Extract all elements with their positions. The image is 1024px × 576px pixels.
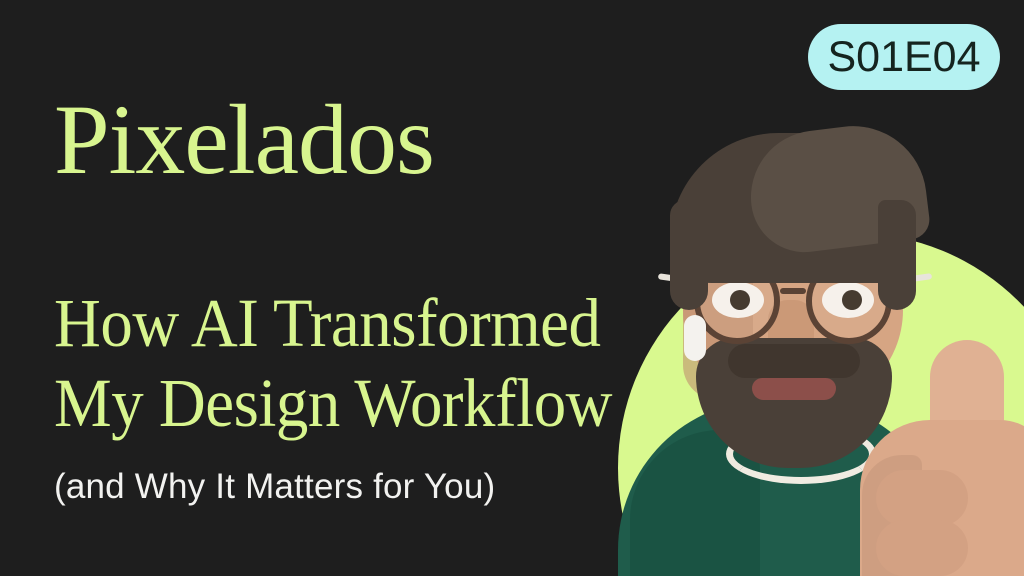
headline: How AI Transformed My Design Workflow (54, 283, 648, 443)
earbud-icon (684, 315, 706, 361)
title-card: S01E04 Pixelados How AI Transformed My D… (0, 0, 1024, 576)
mouth (752, 378, 836, 400)
show-title: Pixelados (54, 90, 434, 190)
episode-badge-label: S01E04 (827, 36, 980, 79)
sideburn-left (670, 200, 708, 310)
subtitle: (and Why It Matters for You) (54, 466, 495, 508)
mustache (728, 344, 860, 378)
headline-line-2: My Design Workflow (54, 363, 612, 443)
headline-line-1: How AI Transformed (54, 283, 612, 363)
knuckle-upper (876, 470, 968, 526)
episode-badge[interactable]: S01E04 (808, 24, 1000, 90)
knuckle-lower (876, 520, 968, 576)
eyeglasses-bridge (780, 288, 806, 294)
sideburn-right (878, 200, 916, 310)
